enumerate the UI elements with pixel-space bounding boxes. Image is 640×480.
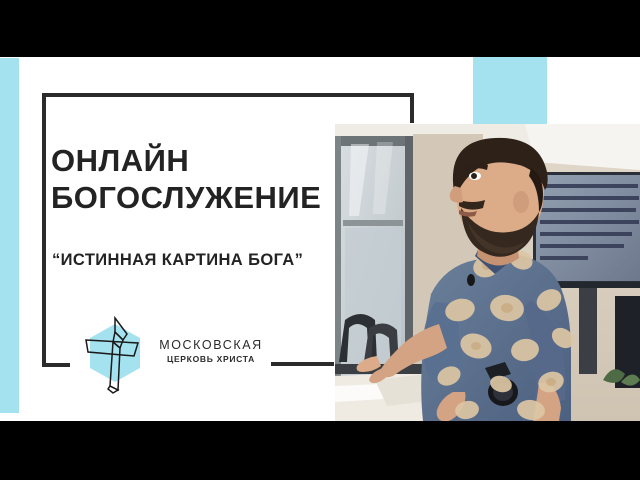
logo-wordmark: МОСКОВСКАЯ ЦЕРКОВЬ ХРИСТА: [156, 338, 266, 364]
headline-line-2: БОГОСЛУЖЕНИЕ: [51, 180, 341, 217]
headline-line-1: ОНЛАЙН: [51, 143, 341, 180]
accent-stripe-left: [0, 58, 19, 413]
slide-canvas: ОНЛАЙН БОГОСЛУЖЕНИЕ “ИСТИННАЯ КАРТИНА БО…: [0, 57, 640, 421]
accent-block-top: [473, 57, 547, 124]
logo-name-line-1: МОСКОВСКАЯ: [156, 338, 266, 352]
letterbox-bar-top: [0, 0, 640, 57]
page-title: ОНЛАЙН БОГОСЛУЖЕНИЕ: [51, 143, 341, 216]
frame-border-bottom-right-stub: [271, 362, 334, 366]
letterbox-bar-bottom: [0, 421, 640, 480]
frame-border-bottom-left-stub: [42, 363, 70, 367]
frame-border-left: [42, 93, 46, 367]
page-subtitle: “ИСТИННАЯ КАРТИНА БОГА”: [52, 251, 342, 270]
frame-border-right-stub: [410, 93, 414, 123]
logo-name-line-2: ЦЕРКОВЬ ХРИСТА: [156, 354, 266, 364]
speaker-photo: [335, 124, 640, 421]
logo-lockup: МОСКОВСКАЯ ЦЕРКОВЬ ХРИСТА: [82, 316, 262, 394]
church-cross-icon: [82, 316, 148, 394]
frame-border-top: [42, 93, 414, 97]
video-frame: ОНЛАЙН БОГОСЛУЖЕНИЕ “ИСТИННАЯ КАРТИНА БО…: [0, 0, 640, 480]
